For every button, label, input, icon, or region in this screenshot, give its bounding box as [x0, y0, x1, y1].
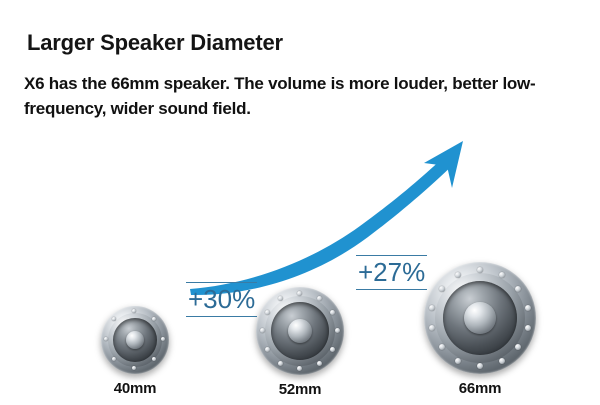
- description-text: X6 has the 66mm speaker. The volume is m…: [24, 71, 580, 121]
- speaker-body: [101, 306, 169, 374]
- speaker-bolt: [335, 328, 340, 333]
- speaker-bolt: [132, 366, 136, 370]
- speaker-caption-40mm: 40mm: [101, 380, 169, 397]
- speaker-caption-66mm: 66mm: [424, 380, 536, 397]
- speaker-unit-52mm: 52mm: [256, 287, 344, 375]
- speaker-bolt: [265, 347, 270, 352]
- speaker-bolt: [132, 309, 136, 313]
- speaker-bolt: [104, 337, 108, 341]
- speaker-bolt: [429, 325, 435, 331]
- speaker-bolt: [439, 286, 445, 292]
- speaker-bolt: [455, 272, 461, 278]
- badge-plus-30: +30%: [186, 282, 257, 317]
- speaker-bolt: [330, 310, 335, 315]
- speaker-bolt: [278, 361, 283, 366]
- speaker-bolt: [477, 363, 483, 369]
- speaker-bolt: [429, 305, 435, 311]
- speaker-bolt: [317, 361, 322, 366]
- speaker-caption-52mm: 52mm: [256, 381, 344, 398]
- speaker-bolt: [477, 267, 483, 273]
- speaker-bolt: [297, 366, 302, 371]
- speaker-bolt: [515, 286, 521, 292]
- speaker-bolt: [112, 317, 116, 321]
- speaker-bolt: [515, 344, 521, 350]
- speaker-bolt: [112, 357, 116, 361]
- speaker-bolt: [499, 272, 505, 278]
- speaker-bolt: [455, 358, 461, 364]
- speaker-unit-66mm: 66mm: [424, 262, 536, 374]
- speaker-bolt: [265, 310, 270, 315]
- speaker-comparison-infographic: Larger Speaker Diameter X6 has the 66mm …: [0, 0, 600, 405]
- speaker-dome: [288, 319, 312, 343]
- speaker-dome: [126, 331, 144, 349]
- speaker-bolt: [278, 296, 283, 301]
- speaker-body: [256, 287, 344, 375]
- speaker-bolt: [525, 325, 531, 331]
- speaker-bolt: [152, 357, 156, 361]
- speaker-bolt: [330, 347, 335, 352]
- speaker-dome: [464, 302, 496, 334]
- speaker-bolt: [152, 317, 156, 321]
- speaker-bolt: [161, 337, 165, 341]
- speaker-unit-40mm: 40mm: [101, 306, 169, 374]
- speaker-bolt: [439, 344, 445, 350]
- speaker-bolt: [499, 358, 505, 364]
- speaker-bolt: [317, 296, 322, 301]
- speaker-body: [424, 262, 536, 374]
- speaker-bolt: [297, 291, 302, 296]
- badge-plus-27: +27%: [356, 255, 427, 290]
- speaker-bolt: [260, 328, 265, 333]
- page-title: Larger Speaker Diameter: [27, 30, 283, 56]
- speaker-bolt: [525, 305, 531, 311]
